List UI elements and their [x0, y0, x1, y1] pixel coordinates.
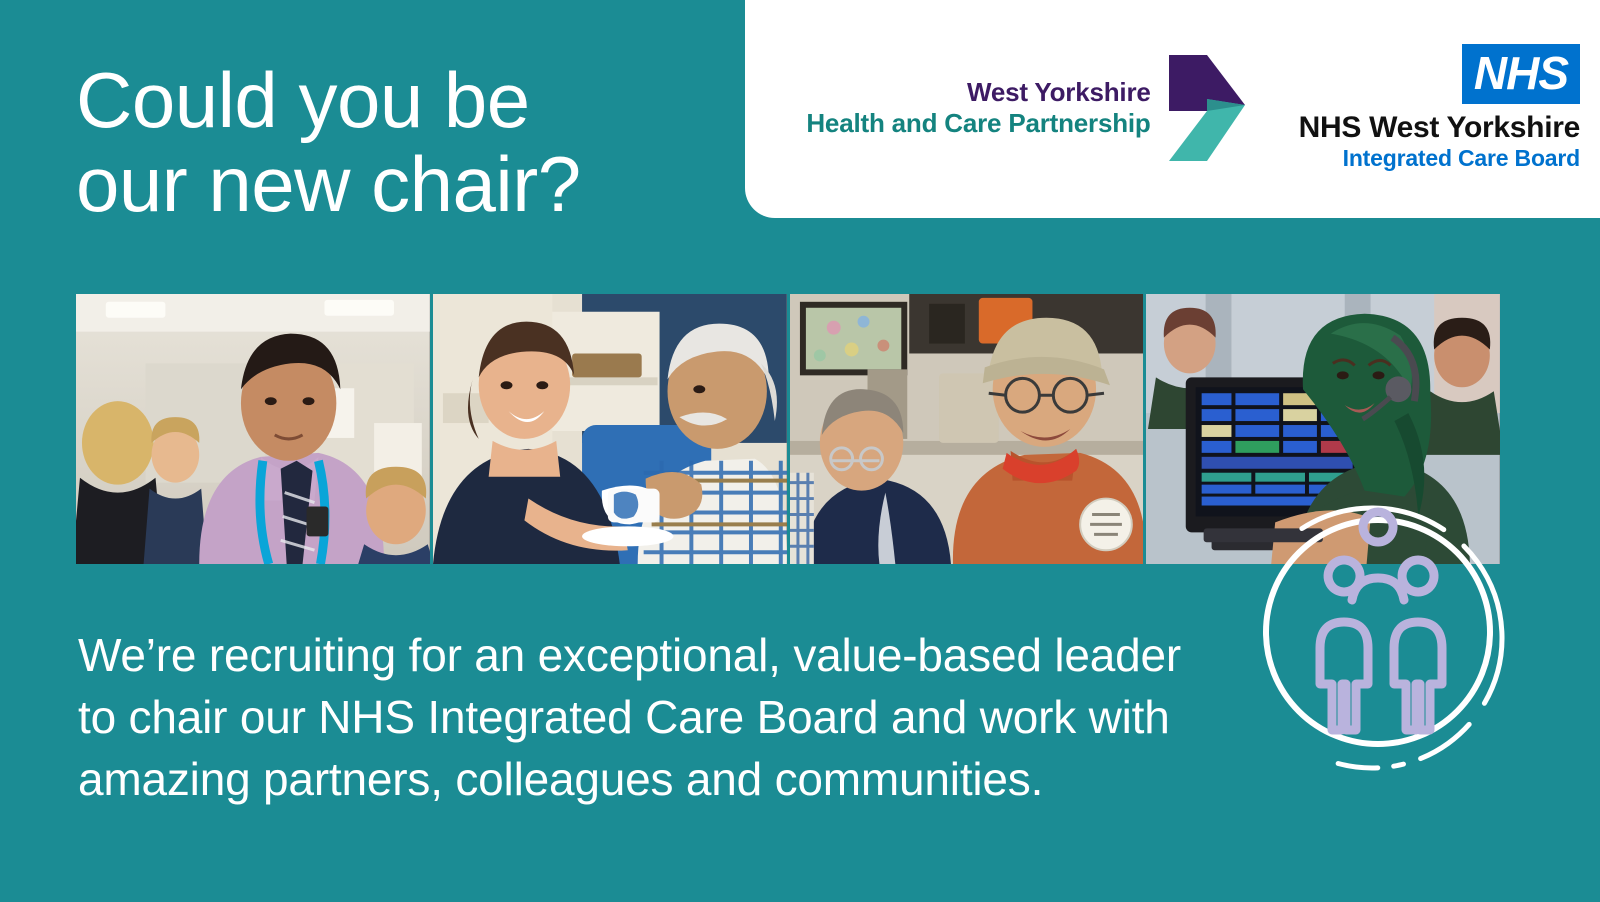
partnership-logo-line1: West Yorkshire	[806, 77, 1150, 108]
photo-staff-member-lanyard	[76, 294, 430, 564]
body-copy: We’re recruiting for an exceptional, val…	[78, 624, 1218, 810]
chevron-icon	[1159, 49, 1251, 167]
logo-panel: West Yorkshire Health and Care Partnersh…	[745, 0, 1600, 218]
nhs-organisation-subtitle: Integrated Care Board	[1343, 145, 1580, 173]
three-people-roundel	[1232, 496, 1512, 776]
partnership-logo-line2: Health and Care Partnership	[806, 108, 1150, 139]
photo-nurse-serving-tea	[433, 294, 787, 564]
page-title: Could you be our new chair?	[76, 58, 581, 226]
recruitment-banner: Could you be our new chair? West Yorkshi…	[0, 0, 1600, 902]
photo-men-in-workshop	[790, 294, 1144, 564]
nhs-blue-box: NHS	[1462, 44, 1580, 104]
west-yorkshire-partnership-logo: West Yorkshire Health and Care Partnersh…	[806, 49, 1250, 167]
nhs-icb-logo: NHS NHS West Yorkshire Integrated Care B…	[1299, 44, 1580, 173]
nhs-organisation-name: NHS West Yorkshire	[1299, 110, 1580, 145]
